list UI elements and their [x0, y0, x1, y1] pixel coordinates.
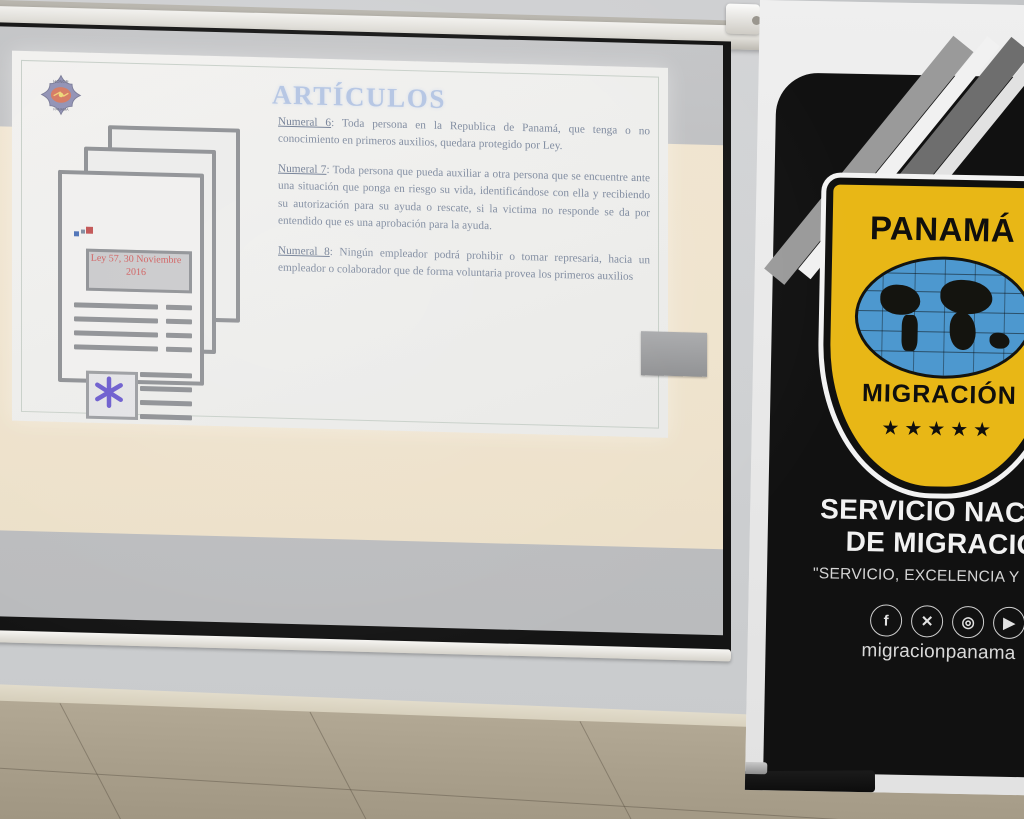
badge-shield-shape: PANAMÁ [821, 177, 1024, 495]
badge-top-text: PANAMÁ [832, 208, 1024, 250]
slide-body-text: Numeral 6: Toda persona en la Republica … [278, 114, 650, 300]
paragraph-numeral-7: Numeral 7: Toda persona que pueda auxili… [278, 161, 650, 239]
stacked-documents-illustration: Ley 57, 30 Noviembre 2016 [56, 124, 242, 381]
svg-text:PANAMA: PANAMA [53, 107, 69, 111]
banner-tagline: "SERVICIO, EXCELENCIA Y CONTROL" [813, 565, 1024, 589]
paragraph-lead: Numeral 6 [278, 116, 331, 129]
youtube-icon[interactable]: ▶ [993, 607, 1024, 640]
star-of-life-icon [89, 374, 129, 411]
projection-screen: ARTÍCULOS HONOR PANAMA [0, 22, 731, 672]
paragraph-numeral-6: Numeral 6: Toda persona en la Republica … [278, 114, 650, 158]
paragraph-text: : Toda persona en la Republica de Panamá… [278, 117, 650, 152]
banner-black-panel: PANAMÁ [763, 72, 1024, 778]
badge-stars: ★★★★★ [829, 414, 1024, 443]
paragraph-text: : Toda persona que pueda auxiliar a otra… [278, 164, 650, 232]
instagram-icon[interactable]: ◎ [952, 606, 985, 639]
banner-title: SERVICIO NACIONAL DE MIGRACIÓN [819, 493, 1024, 564]
document-sheet-front: Ley 57, 30 Noviembre 2016 [58, 170, 204, 386]
paragraph-text: : Ningún empleador podrá prohibir o toma… [278, 246, 650, 283]
social-icons-row: f ✕ ◎ ▶ [870, 604, 1024, 639]
document-corner-marks-icon [74, 226, 96, 239]
slide-inner-frame: ARTÍCULOS HONOR PANAMA [21, 60, 659, 429]
banner-title-line2: DE MIGRACIÓN [819, 526, 1024, 564]
svg-text:HONOR: HONOR [53, 79, 68, 84]
fire-department-maltese-cross-emblem: HONOR PANAMA [38, 71, 84, 118]
screen-bracket-right [641, 331, 707, 377]
law-reference-label: Ley 57, 30 Noviembre 2016 [80, 252, 192, 280]
presentation-slide: ARTÍCULOS HONOR PANAMA [12, 51, 668, 438]
banner-stand-foot [745, 762, 768, 775]
x-twitter-icon[interactable]: ✕ [911, 605, 944, 638]
paragraph-lead: Numeral 7 [278, 163, 326, 176]
paragraph-numeral-8: Numeral 8: Ningún empleador podrá prohib… [278, 243, 650, 287]
globe-icon [854, 255, 1024, 380]
roll-up-banner: PANAMÁ [745, 0, 1024, 796]
page-title: ARTÍCULOS [74, 74, 644, 120]
facebook-icon[interactable]: f [870, 604, 903, 637]
presentation-room-scene: ARTÍCULOS HONOR PANAMA [0, 0, 1024, 819]
medical-icon-box [86, 371, 138, 420]
badge-bottom-text: MIGRACIÓN [829, 378, 1024, 411]
social-handle: migracionpanama [861, 640, 1024, 666]
banner-title-line1: SERVICIO NACIONAL [820, 493, 1024, 530]
panama-migracion-badge: PANAMÁ [821, 177, 1024, 491]
paragraph-lead: Numeral 8 [278, 245, 330, 258]
